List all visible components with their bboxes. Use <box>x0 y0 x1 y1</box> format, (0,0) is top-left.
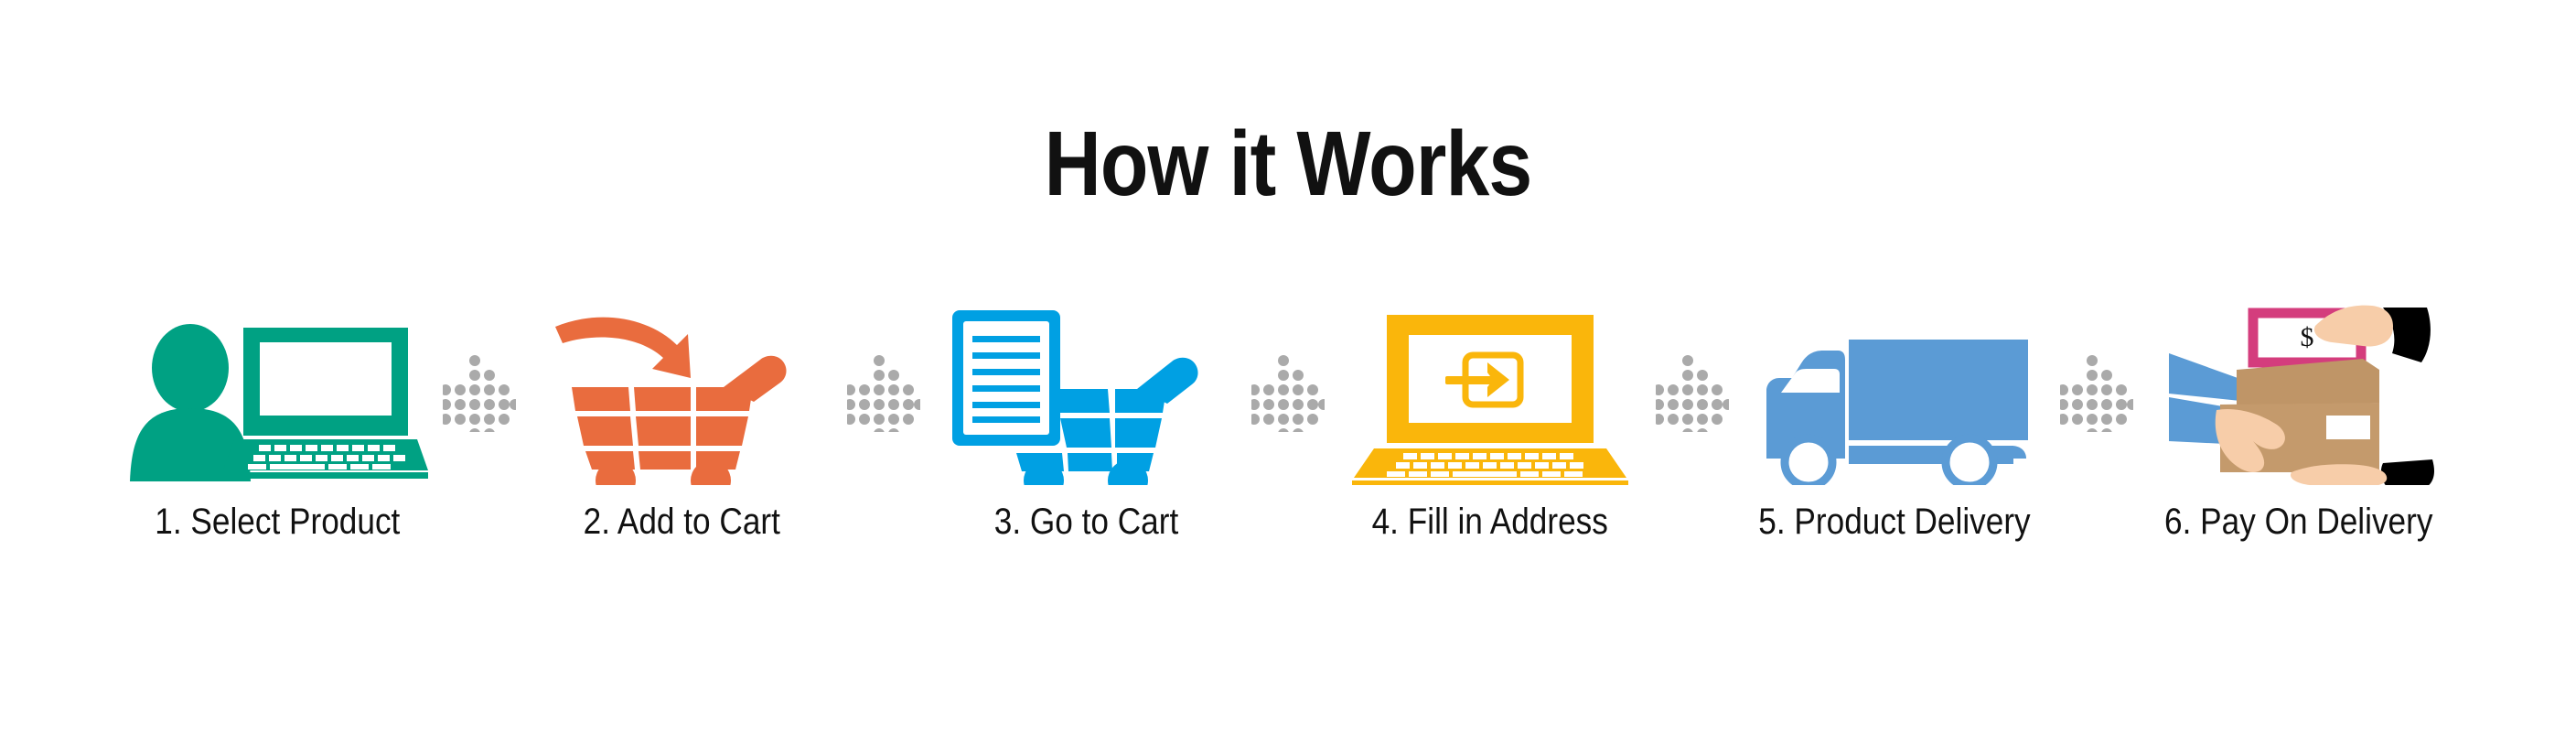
money-symbol: $ <box>2301 322 2314 352</box>
cart-document-icon <box>949 307 1223 485</box>
step-label: 3. Go to Cart <box>993 502 1178 543</box>
icon-container <box>526 302 837 485</box>
step-1-select-product[interactable]: 1. Select Product <box>117 302 437 543</box>
step-label: 5. Product Delivery <box>1758 502 2030 543</box>
icon-container <box>122 302 433 485</box>
step-label: 1. Select Product <box>155 502 400 543</box>
icon-container: $ <box>2143 302 2454 485</box>
steps-strip: 1. Select Product <box>0 302 2576 641</box>
step-6-pay-on-delivery[interactable]: $ <box>2139 302 2459 543</box>
step-label: 4. Fill in Address <box>1372 502 1608 543</box>
step-4-fill-in-address[interactable]: 4. Fill in Address <box>1330 302 1650 543</box>
laptop-login-icon <box>1348 311 1632 485</box>
dot-arrow-separator-4 <box>1650 302 1734 485</box>
cart-arrow-icon <box>544 307 819 485</box>
icon-container <box>930 302 1241 485</box>
dot-arrow-separator-3 <box>1246 302 1330 485</box>
cash-on-delivery-icon: $ <box>2152 302 2445 485</box>
dot-arrow-icon <box>443 355 516 432</box>
dot-arrow-separator-2 <box>842 302 926 485</box>
icon-container <box>1739 302 2050 485</box>
dot-arrow-icon <box>2060 355 2133 432</box>
step-3-go-to-cart[interactable]: 3. Go to Cart <box>926 302 1246 543</box>
dot-arrow-icon <box>847 355 920 432</box>
dot-arrow-separator-1 <box>437 302 521 485</box>
dot-arrow-icon <box>1251 355 1325 432</box>
icon-container <box>1335 302 1646 485</box>
step-label: 6. Pay On Delivery <box>2164 502 2432 543</box>
step-label: 2. Add to Cart <box>583 502 779 543</box>
step-2-add-to-cart[interactable]: 2. Add to Cart <box>521 302 842 543</box>
dot-arrow-separator-5 <box>2055 302 2139 485</box>
page-title: How it Works <box>180 118 2396 210</box>
step-5-product-delivery[interactable]: 5. Product Delivery <box>1734 302 2055 543</box>
person-laptop-icon <box>126 320 428 485</box>
dot-arrow-icon <box>1656 355 1729 432</box>
delivery-truck-icon <box>1757 334 2032 485</box>
